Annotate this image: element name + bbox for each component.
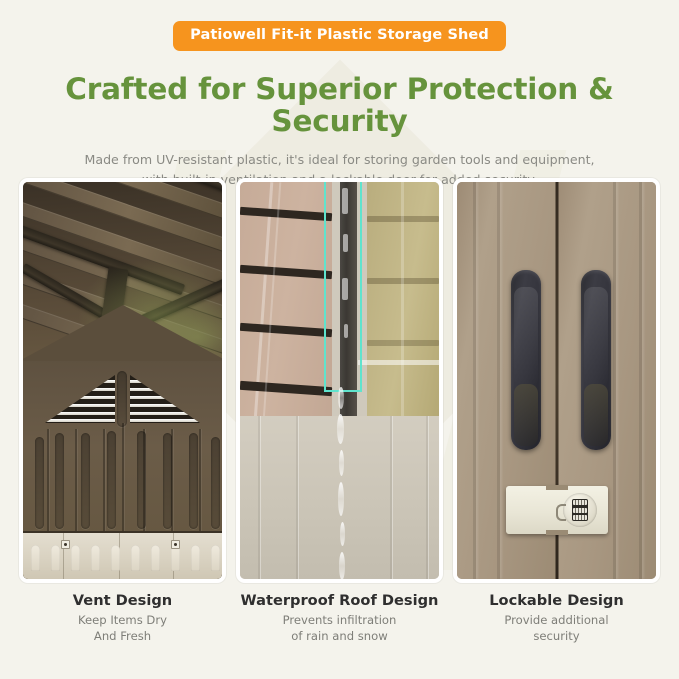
product-badge: Patiowell Fit-it Plastic Storage Shed [173,21,506,51]
vent-design-photo [23,182,222,579]
highlight-channel-outline [324,368,362,392]
water-drip [338,387,344,409]
roof-panel-right [367,182,439,420]
caption-subtitle-line-1: Provide additional [504,613,608,627]
water-drip [338,482,344,516]
caption-subtitle-line-1: Keep Items Dry [78,613,167,627]
caption-title: Waterproof Roof Design [236,592,443,610]
waterproof-roof-photo [240,182,439,579]
badge-row: Patiowell Fit-it Plastic Storage Shed [0,0,679,51]
feature-image-lockable-design [453,178,660,583]
water-drip [340,522,345,546]
roof-panel-left [240,182,332,420]
combination-wheels[interactable] [572,499,588,521]
caption-waterproof-roof-design: Waterproof Roof Design Prevents infiltra… [236,592,443,644]
page-title: Crafted for Superior Protection & Securi… [0,73,679,138]
base-wall-panels [23,531,222,579]
base-screw-left [61,540,70,549]
caption-lockable-design: Lockable Design Provide additional secur… [453,592,660,644]
water-drip [339,450,344,476]
highlight-line-bottom-right [360,362,362,370]
caption-subtitle-line-2: And Fresh [94,629,151,643]
caption-vent-design: Vent Design Keep Items Dry And Fresh [19,592,226,644]
caption-subtitle-line-1: Prevents infiltration [283,613,397,627]
caption-subtitle-line-2: of rain and snow [291,629,387,643]
vent-louver-right [130,375,200,423]
caption-subtitle: Prevents infiltration of rain and snow [236,613,443,644]
gable-peak [23,305,222,361]
page-subtitle-line-1: Made from UV-resistant plastic, it's ide… [84,152,594,167]
caption-title: Lockable Design [453,592,660,610]
caption-subtitle-line-2: security [533,629,579,643]
caption-subtitle: Keep Items Dry And Fresh [19,613,226,644]
feature-image-row [0,178,679,583]
vent-louver-left [45,375,115,423]
feature-caption-row: Vent Design Keep Items Dry And Fresh Wat… [0,592,679,644]
water-drip [337,414,344,444]
highlight-line-left [324,182,326,390]
caption-subtitle: Provide additional security [453,613,660,644]
door-handle-right[interactable] [581,270,611,450]
combination-lock-dial[interactable] [563,493,597,527]
feature-image-waterproof-roof-design [236,178,443,583]
roof-eave-line [358,360,439,365]
highlight-line-right [360,182,362,364]
lock-hasp-plate [506,486,608,534]
feature-image-vent-design [19,178,226,583]
water-drip [339,552,345,579]
lockable-design-photo [457,182,656,579]
lock-shackle-icon [556,504,566,521]
base-screw-right [171,540,180,549]
header: Patiowell Fit-it Plastic Storage Shed Cr… [0,0,679,189]
door-handle-left[interactable] [511,270,541,450]
caption-title: Vent Design [19,592,226,610]
